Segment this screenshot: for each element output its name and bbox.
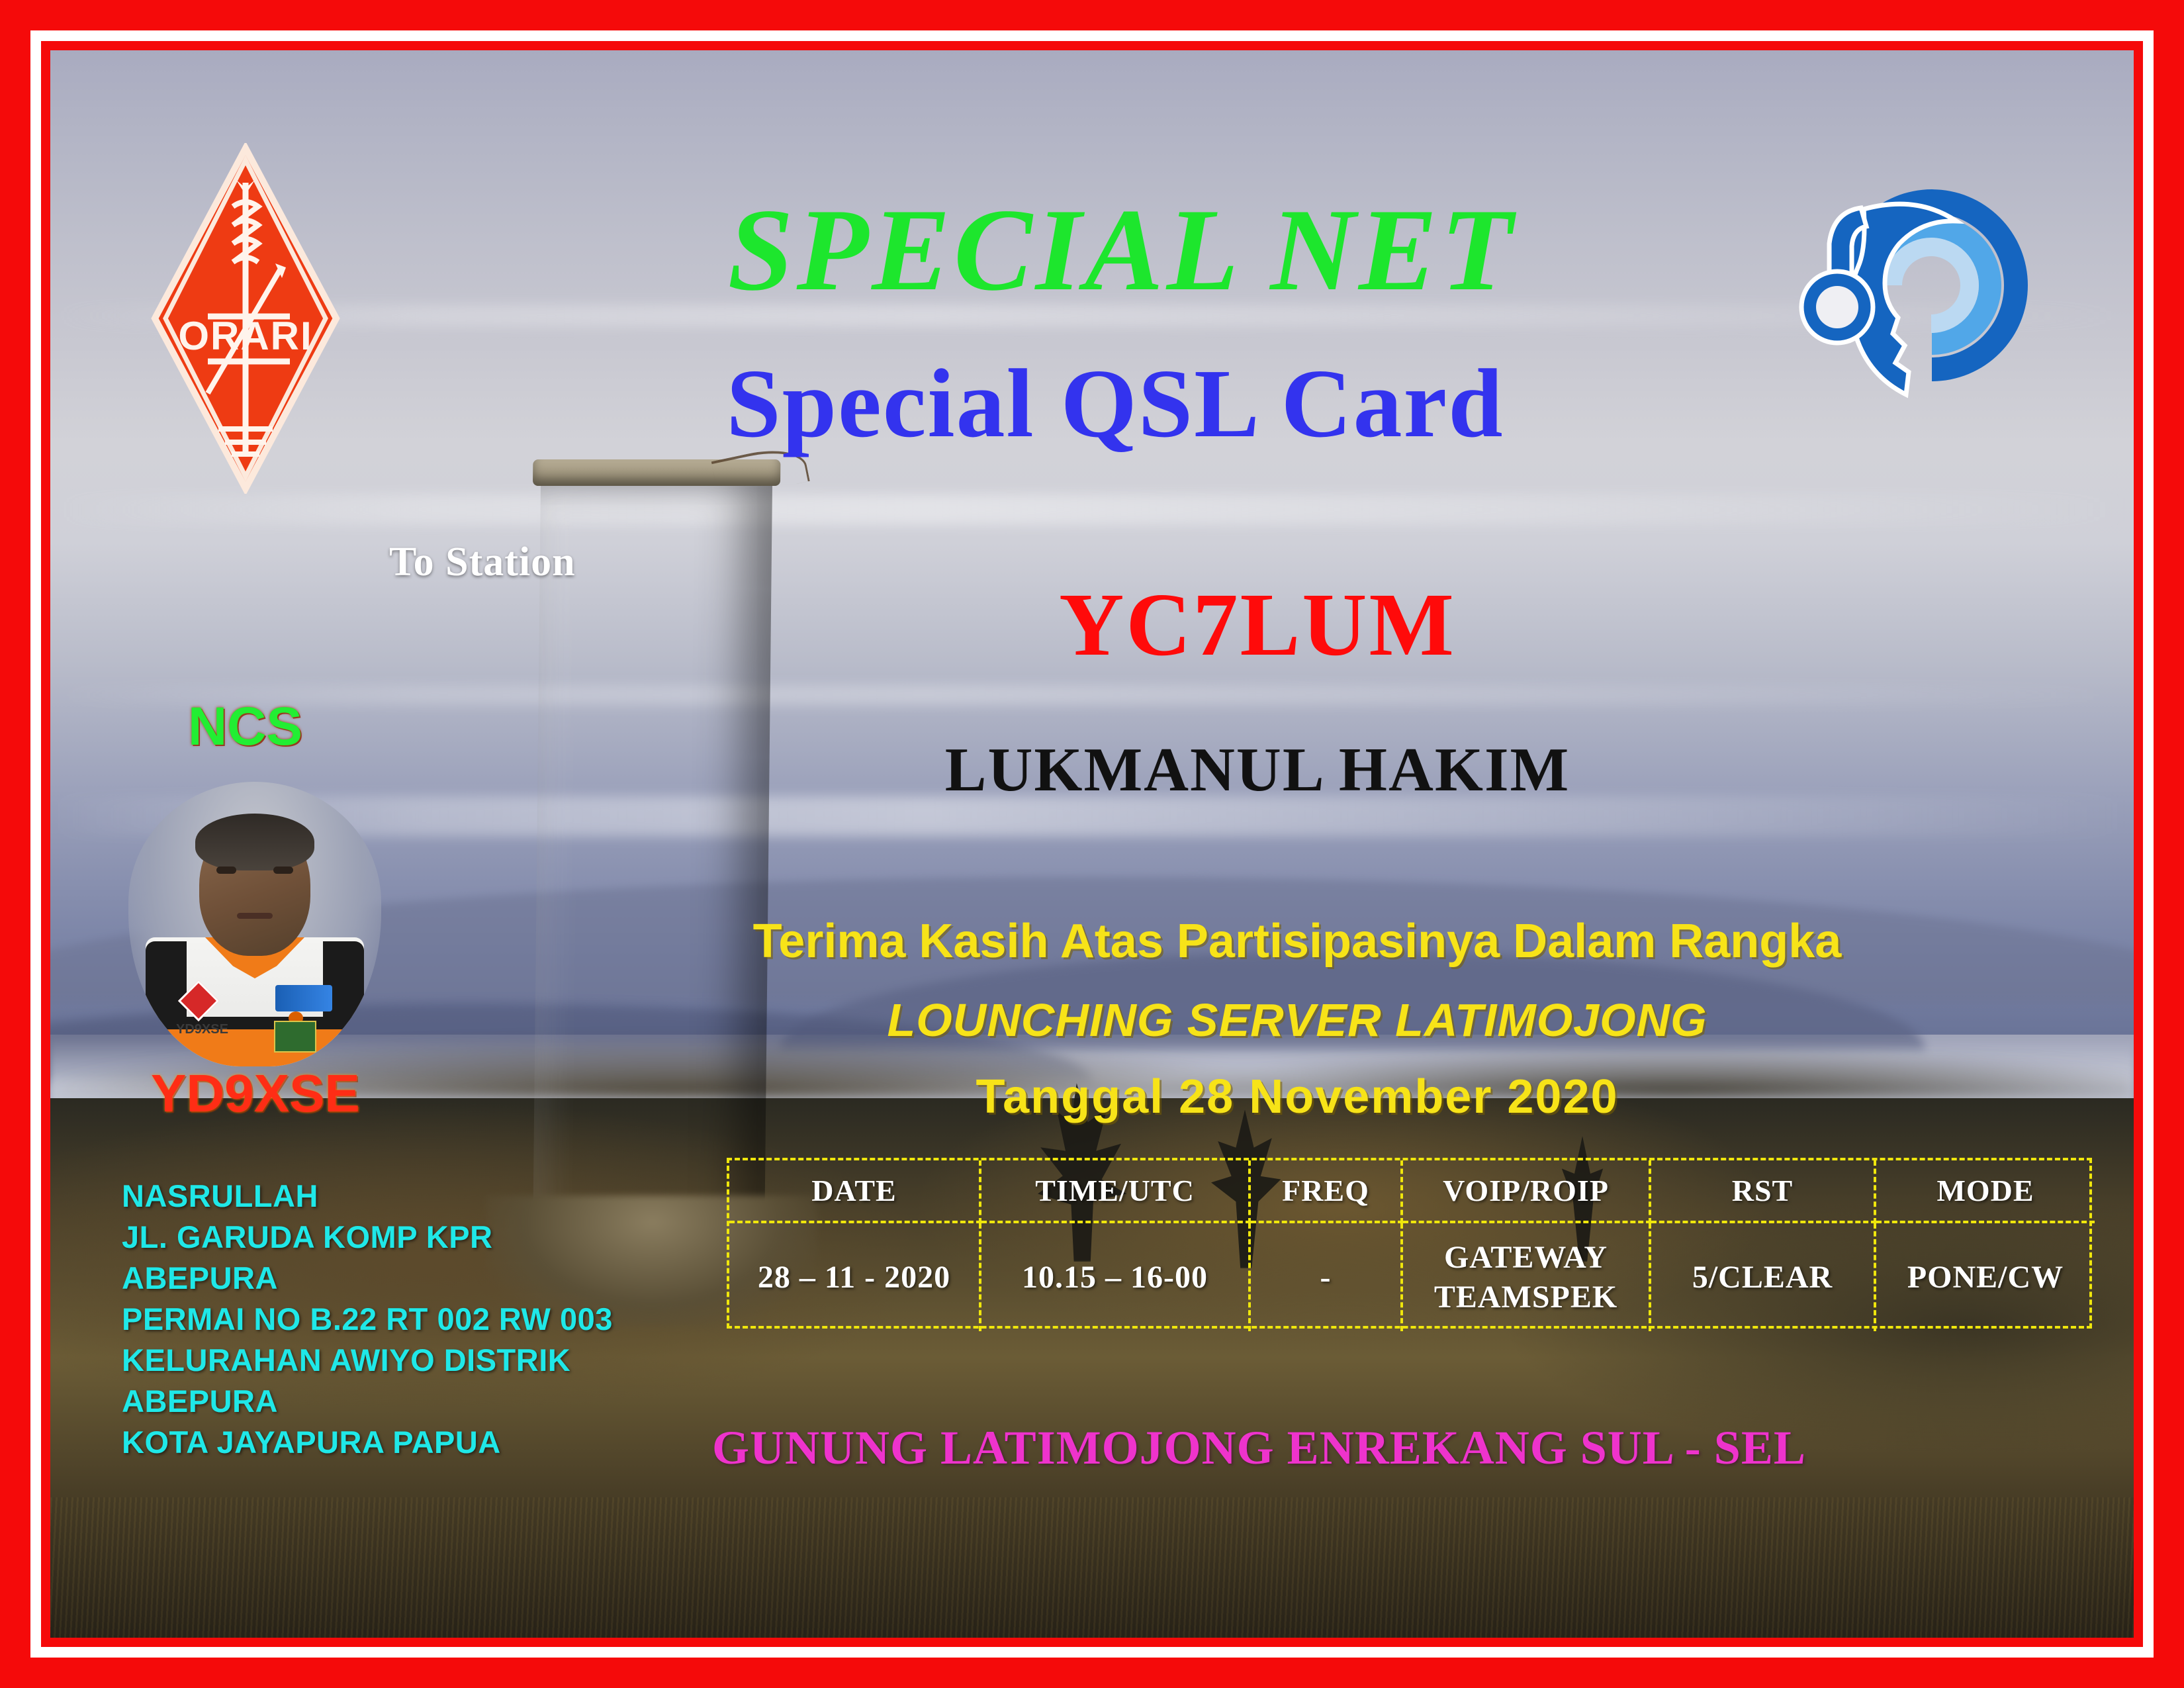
table-header-voip-roip: VOIP/ROIP xyxy=(1403,1160,1651,1223)
qsl-card-background-photo: ORARI SPE xyxy=(50,50,2134,1638)
content-layer: ORARI SPE xyxy=(50,50,2134,1638)
svg-text:ORARI: ORARI xyxy=(178,314,312,358)
hair xyxy=(195,814,314,870)
table-header-rst: RST xyxy=(1651,1160,1876,1223)
table-header-time-utc: TIME/UTC xyxy=(981,1160,1251,1223)
table-header-date: DATE xyxy=(729,1160,981,1223)
table-cell-time-utc: 10.15 – 16-00 xyxy=(981,1223,1251,1331)
station-operator-name: LUKMANUL HAKIM xyxy=(765,739,1750,801)
qsl-card-outer-frame: ORARI SPE xyxy=(0,0,2184,1688)
uniform-shirt: YD9XSE xyxy=(146,937,364,1066)
event-title: LOUNCHING SERVER LATIMOJONG xyxy=(739,997,1856,1043)
club-patch xyxy=(275,985,332,1011)
eye-left xyxy=(216,867,236,874)
table-cell-freq: - xyxy=(1251,1223,1403,1331)
address-line: PERMAI NO B.22 RT 002 RW 003 xyxy=(122,1299,613,1340)
address-line: KOTA JAYAPURA PAPUA xyxy=(122,1422,613,1463)
address-block: NASRULLAH JL. GARUDA KOMP KPR ABEPURA PE… xyxy=(122,1176,613,1463)
table-cell-mode: PONE/CW xyxy=(1876,1223,2095,1331)
shoulder-panel xyxy=(146,941,187,1021)
footer-address: Address : amatir.latimojong.com xyxy=(1334,1629,1985,1638)
table-cell-voip-roip: GATEWAY TEAMSPEK xyxy=(1403,1223,1651,1331)
table-header-freq: FREQ xyxy=(1251,1160,1403,1223)
address-line: NASRULLAH xyxy=(122,1176,613,1217)
uniform-callsign-text: YD9XSE xyxy=(176,1022,228,1037)
table-cell-date: 28 – 11 - 2020 xyxy=(729,1223,981,1331)
ncs-callsign: YD9XSE xyxy=(151,1063,360,1124)
qsl-card-white-frame: ORARI SPE xyxy=(30,30,2154,1658)
address-line: JL. GARUDA KOMP KPR xyxy=(122,1217,613,1258)
table-cell-rst: 5/CLEAR xyxy=(1651,1223,1876,1331)
qso-log-table: DATE TIME/UTC FREQ VOIP/ROIP RST MODE 28… xyxy=(727,1158,2092,1329)
qsl-card-inner-frame: ORARI SPE xyxy=(41,41,2143,1647)
page-title-special-net: SPECIAL NET xyxy=(50,191,2134,308)
table-header-mode: MODE xyxy=(1876,1160,2095,1223)
eye-right xyxy=(273,867,293,874)
page-subtitle-qsl-card: Special QSL Card xyxy=(50,355,2134,453)
to-station-label: To Station xyxy=(389,539,576,586)
id-card xyxy=(274,1021,316,1053)
ncs-label: NCS xyxy=(188,696,302,758)
event-thanks-line: Terima Kasih Atas Partisipasinya Dalam R… xyxy=(739,917,1856,965)
address-line: ABEPURA xyxy=(122,1258,613,1299)
event-location: GUNUNG LATIMOJONG ENREKANG SUL - SEL xyxy=(712,1421,1806,1476)
mouth xyxy=(237,913,273,919)
address-line: KELURAHAN AWIYO DISTRIK xyxy=(122,1340,613,1381)
footer-motto: "AMATIR RADIO ADALAH PROGRESIVE" xyxy=(131,1629,1060,1638)
station-callsign: YC7LUM xyxy=(765,580,1750,670)
address-line: ABEPURA xyxy=(122,1381,613,1422)
ncs-operator-photo: YD9XSE xyxy=(128,782,381,1066)
event-date-line: Tanggal 28 November 2020 xyxy=(739,1073,1856,1121)
